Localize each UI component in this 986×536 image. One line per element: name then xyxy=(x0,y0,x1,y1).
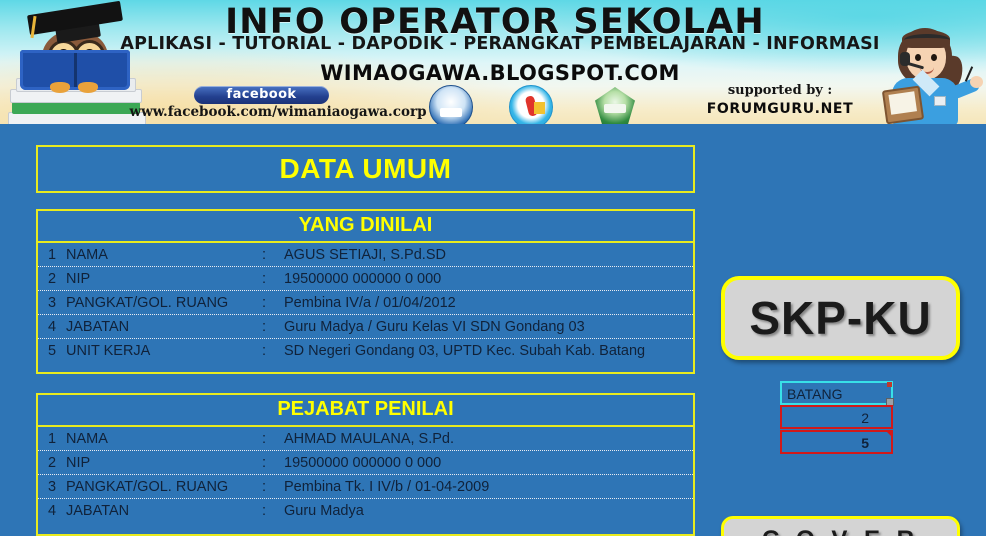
row-separator: : xyxy=(262,503,284,519)
row-number: 2 xyxy=(38,271,66,287)
row-label: JABATAN xyxy=(66,503,262,519)
row-label: PANGKAT/GOL. RUANG xyxy=(66,295,262,311)
site-banner: INFO OPERATOR SEKOLAH APLIKASI - TUTORIA… xyxy=(0,0,986,131)
facebook-badge[interactable]: facebook xyxy=(194,86,329,104)
row-label: NIP xyxy=(66,455,262,471)
table-row[interactable]: 3 PANGKAT/GOL. RUANG : Pembina Tk. I IV/… xyxy=(38,475,693,499)
row-value[interactable]: 19500000 000000 0 000 xyxy=(284,455,693,471)
cell-comment-marker-icon xyxy=(887,382,892,387)
row-label: NAMA xyxy=(66,431,262,447)
row-number: 4 xyxy=(38,503,66,519)
row-number: 4 xyxy=(38,319,66,335)
spreadsheet-surface: DATA UMUM YANG DINILAI 1 NAMA : AGUS SET… xyxy=(0,131,986,536)
partner-logos xyxy=(425,85,660,127)
facebook-url-text: www.facebook.com/wimaniaogawa.corp xyxy=(128,104,428,120)
table-row[interactable]: 1 NAMA : AHMAD MAULANA, S.Pd. xyxy=(38,427,693,451)
cover-button[interactable]: C O V E R xyxy=(721,516,960,536)
cover-button-label: C O V E R xyxy=(724,519,957,536)
facebook-badge-label: facebook xyxy=(194,86,329,104)
page-title: DATA UMUM xyxy=(38,147,693,191)
cell-value: 2 xyxy=(861,410,869,426)
skp-ku-app-button[interactable]: SKP-KU xyxy=(721,276,960,360)
kemdikbud-logo-icon xyxy=(429,85,471,127)
spreadsheet-cell-group: BATANG 2 5 xyxy=(780,381,893,455)
section-heading: PEJABAT PENILAI xyxy=(38,395,693,427)
cell-value: 5 xyxy=(861,435,869,451)
cell-value: BATANG xyxy=(787,386,843,402)
row-value[interactable]: SD Negeri Gondang 03, UPTD Kec. Subah Ka… xyxy=(284,343,693,359)
row-separator: : xyxy=(262,431,284,447)
table-row[interactable]: 2 NIP : 19500000 000000 0 000 xyxy=(38,267,693,291)
row-separator: : xyxy=(262,319,284,335)
row-label: PANGKAT/GOL. RUANG xyxy=(66,479,262,495)
customer-service-operator-icon xyxy=(870,26,982,126)
supported-by-name: FORUMGURU.NET xyxy=(700,101,860,117)
row-value[interactable]: AHMAD MAULANA, S.Pd. xyxy=(284,431,693,447)
row-value[interactable]: Guru Madya / Guru Kelas VI SDN Gondang 0… xyxy=(284,319,693,335)
row-number: 3 xyxy=(38,479,66,495)
row-label: JABATAN xyxy=(66,319,262,335)
section-yang-dinilai: YANG DINILAI 1 NAMA : AGUS SETIAJI, S.Pd… xyxy=(36,209,695,374)
row-label: NAMA xyxy=(66,247,262,263)
kemenag-logo-icon xyxy=(595,85,637,127)
application-window: INFO OPERATOR SEKOLAH APLIKASI - TUTORIA… xyxy=(0,0,986,536)
row-separator: : xyxy=(262,295,284,311)
table-row[interactable]: 4 JABATAN : Guru Madya xyxy=(38,499,693,523)
table-row[interactable]: 4 JABATAN : Guru Madya / Guru Kelas VI S… xyxy=(38,315,693,339)
table-row[interactable]: 1 NAMA : AGUS SETIAJI, S.Pd.SD xyxy=(38,243,693,267)
row-separator: : xyxy=(262,271,284,287)
table-row[interactable]: 3 PANGKAT/GOL. RUANG : Pembina IV/a / 01… xyxy=(38,291,693,315)
section-pejabat-penilai: PEJABAT PENILAI 1 NAMA : AHMAD MAULANA, … xyxy=(36,393,695,536)
table-row[interactable]: 2 NIP : 19500000 000000 0 000 xyxy=(38,451,693,475)
banner-subtitle: APLIKASI - TUTORIAL - DAPODIK - PERANGKA… xyxy=(120,33,880,55)
row-number: 1 xyxy=(38,247,66,263)
cell-selected-batang[interactable]: BATANG xyxy=(780,381,893,405)
supported-by-label: supported by : xyxy=(700,83,860,99)
row-separator: : xyxy=(262,343,284,359)
row-number: 2 xyxy=(38,455,66,471)
row-number: 1 xyxy=(38,431,66,447)
banner-bottom-bar xyxy=(0,124,986,131)
row-number: 5 xyxy=(38,343,66,359)
table-row[interactable]: 5 UNIT KERJA : SD Negeri Gondang 03, UPT… xyxy=(38,339,693,363)
sekolah-dasar-logo-icon xyxy=(509,85,551,127)
cell-value-5[interactable]: 5 xyxy=(780,430,893,454)
row-separator: : xyxy=(262,247,284,263)
skp-ku-app-label: SKP-KU xyxy=(725,280,956,356)
row-number: 3 xyxy=(38,295,66,311)
cell-value-2[interactable]: 2 xyxy=(780,405,893,429)
section-heading: YANG DINILAI xyxy=(38,211,693,243)
row-separator: : xyxy=(262,479,284,495)
row-value[interactable]: Pembina Tk. I IV/b / 01-04-2009 xyxy=(284,479,693,495)
row-value[interactable]: Guru Madya xyxy=(284,503,693,519)
row-label: UNIT KERJA xyxy=(66,343,262,359)
cell-comment-marker-icon xyxy=(886,431,892,437)
page-title-box: DATA UMUM xyxy=(36,145,695,193)
row-separator: : xyxy=(262,455,284,471)
row-value[interactable]: Pembina IV/a / 01/04/2012 xyxy=(284,295,693,311)
row-value[interactable]: 19500000 000000 0 000 xyxy=(284,271,693,287)
row-value[interactable]: AGUS SETIAJI, S.Pd.SD xyxy=(284,247,693,263)
row-label: NIP xyxy=(66,271,262,287)
